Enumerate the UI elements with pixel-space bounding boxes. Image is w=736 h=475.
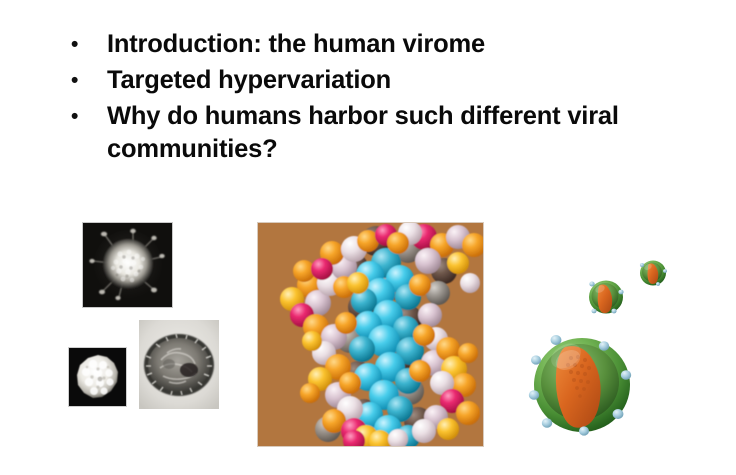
glycoprotein-spike bbox=[529, 335, 631, 436]
presentation-slide: • Introduction: the human virome • Targe… bbox=[0, 0, 736, 475]
figure-layer bbox=[0, 0, 736, 475]
phage-micrograph-graphic bbox=[83, 223, 173, 308]
small-virion bbox=[640, 261, 667, 286]
capsid-micrograph-graphic bbox=[69, 348, 127, 407]
electron-micrograph-capsid bbox=[68, 347, 127, 407]
dna-helix-graphic bbox=[258, 223, 484, 447]
dna-double-helix-space-filling-model bbox=[257, 222, 484, 447]
glycoprotein-spike bbox=[640, 263, 667, 286]
medium-virion bbox=[589, 281, 624, 314]
electron-micrograph-phage-particle bbox=[82, 222, 173, 308]
electron-micrograph-poxvirus bbox=[139, 320, 219, 409]
poxvirus-micrograph-graphic bbox=[139, 320, 219, 409]
glycoprotein-spike bbox=[589, 282, 623, 314]
large-virion bbox=[529, 335, 631, 436]
